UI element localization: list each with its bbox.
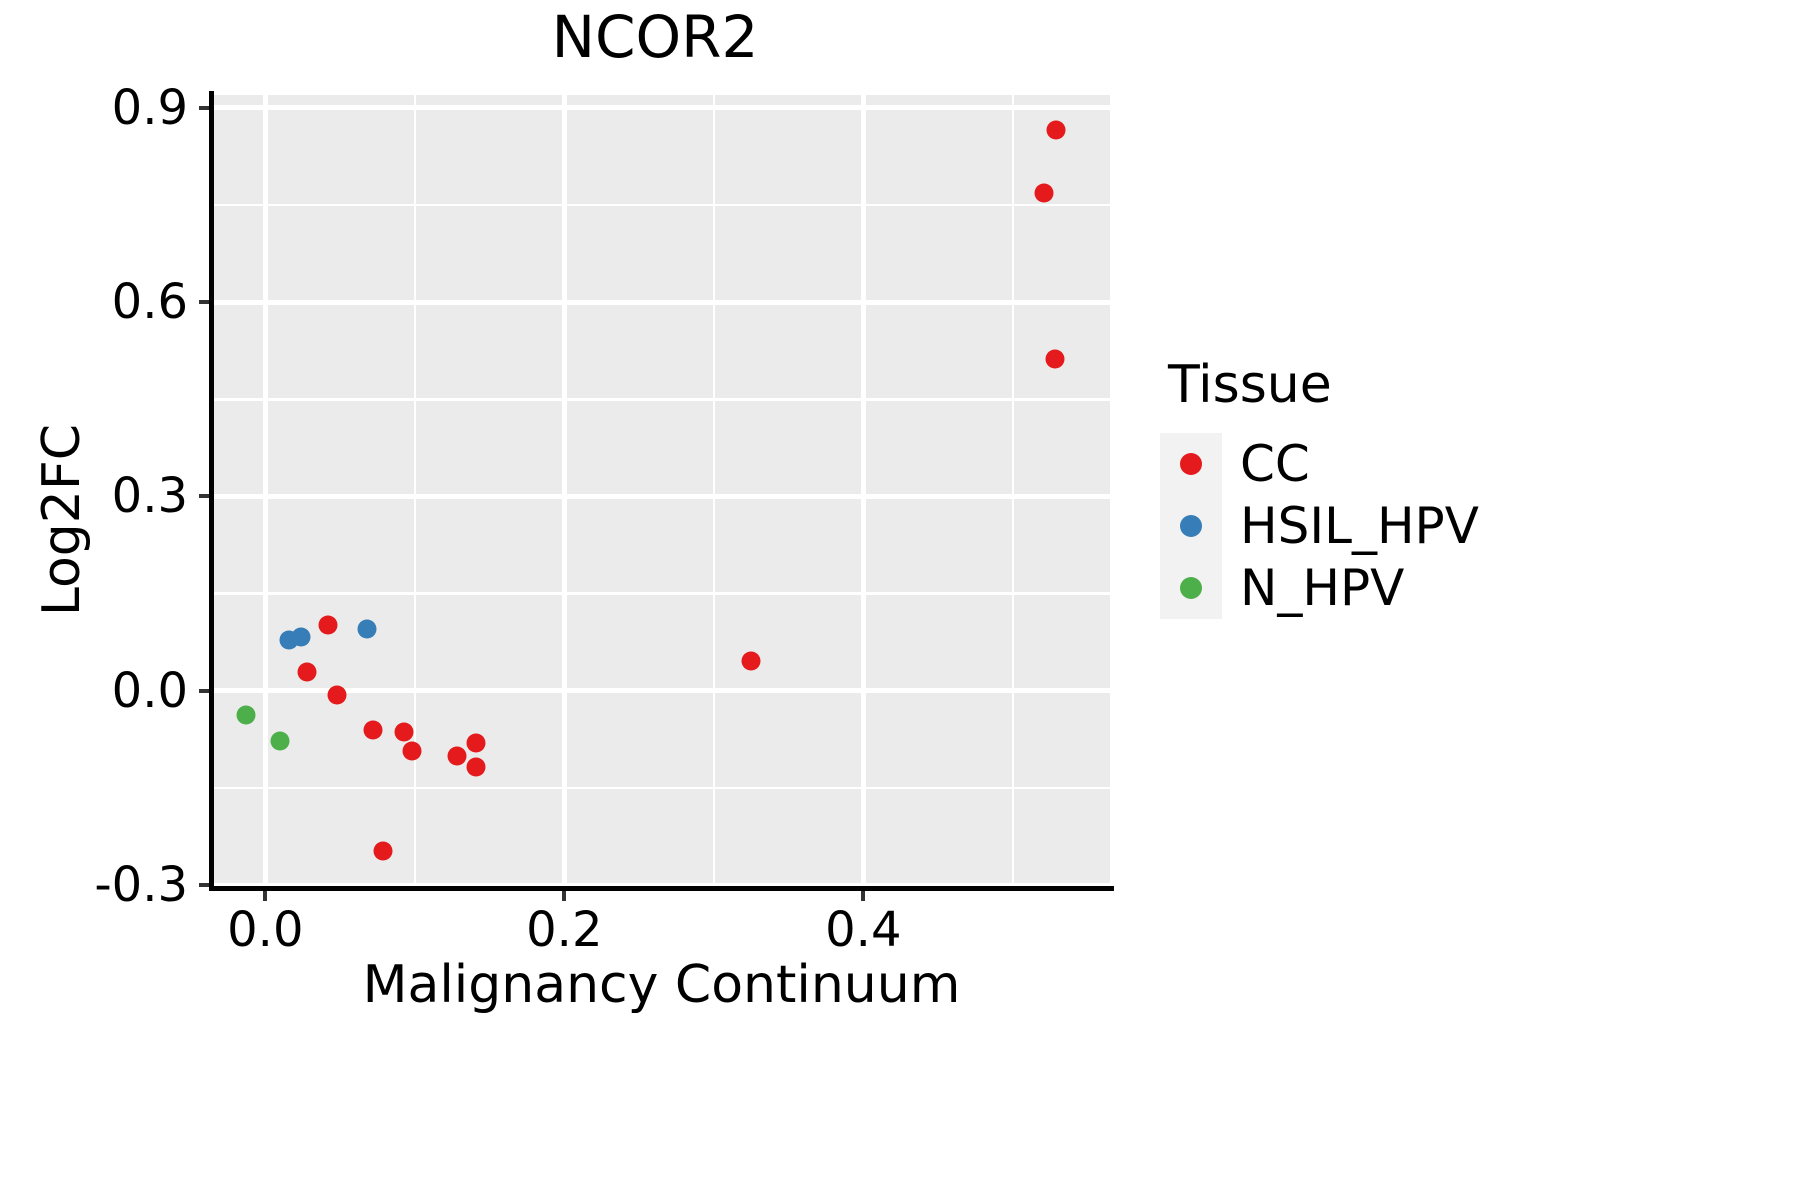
x-tick-mark — [263, 891, 267, 901]
gridline-x-major — [861, 95, 866, 885]
y-tick-mark — [199, 883, 209, 887]
scatter-plot-figure: NCOR2 -0.30.00.30.60.9 0.00.20.4 Log2FC … — [0, 0, 1800, 1200]
legend-item-label: CC — [1240, 439, 1310, 489]
y-tick-label: 0.3 — [112, 468, 188, 524]
x-tick-mark — [861, 891, 865, 901]
data-point — [1047, 120, 1066, 139]
legend-key-swatch — [1160, 495, 1222, 557]
x-axis-line — [209, 886, 1114, 891]
data-point — [357, 620, 376, 639]
plot-panel — [213, 95, 1110, 885]
data-point — [1035, 184, 1054, 203]
data-point — [467, 734, 486, 753]
x-tick-mark — [562, 891, 566, 901]
x-tick-label: 0.2 — [526, 902, 602, 958]
legend-item-label: HSIL_HPV — [1240, 501, 1479, 551]
data-point — [271, 731, 290, 750]
data-point — [328, 686, 347, 705]
gridline-x-minor — [414, 95, 417, 885]
data-point — [402, 741, 421, 760]
legend-item-n-hpv[interactable]: N_HPV — [1160, 557, 1630, 619]
x-axis-title: Malignancy Continuum — [213, 955, 1110, 1015]
y-tick-label: 0.0 — [112, 663, 188, 719]
gridline-y-minor — [213, 398, 1110, 401]
y-tick-mark — [199, 300, 209, 304]
gridline-y-minor — [213, 787, 1110, 790]
y-tick-mark — [199, 689, 209, 693]
gridline-y-minor — [213, 204, 1110, 207]
y-tick-mark — [199, 106, 209, 110]
legend: Tissue CCHSIL_HPVN_HPV — [1160, 355, 1630, 619]
gridline-y-major — [213, 105, 1110, 110]
data-point — [395, 722, 414, 741]
y-tick-mark — [199, 494, 209, 498]
data-point — [374, 842, 393, 861]
data-point — [742, 651, 761, 670]
legend-items: CCHSIL_HPVN_HPV — [1160, 433, 1630, 619]
legend-key-swatch — [1160, 433, 1222, 495]
data-point — [447, 747, 466, 766]
data-point — [236, 705, 255, 724]
y-axis-line — [209, 91, 214, 891]
legend-item-label: N_HPV — [1240, 563, 1404, 613]
y-tick-label: 0.6 — [112, 274, 188, 330]
page-title: NCOR2 — [200, 8, 1110, 66]
data-point — [298, 662, 317, 681]
x-tick-label: 0.4 — [825, 902, 901, 958]
x-tick-label: 0.0 — [227, 902, 303, 958]
legend-key-swatch — [1160, 557, 1222, 619]
gridline-x-minor — [713, 95, 716, 885]
legend-item-hsil-hpv[interactable]: HSIL_HPV — [1160, 495, 1630, 557]
gridline-y-major — [213, 883, 1110, 886]
gridline-y-major — [213, 300, 1110, 305]
legend-item-cc[interactable]: CC — [1160, 433, 1630, 495]
gridline-y-major — [213, 494, 1110, 499]
gridline-y-major — [213, 688, 1110, 693]
gridline-y-minor — [213, 592, 1110, 595]
data-point — [1045, 350, 1064, 369]
y-tick-label: -0.3 — [94, 857, 188, 913]
gridline-x-major — [263, 95, 268, 885]
data-point — [363, 720, 382, 739]
data-point — [319, 616, 338, 635]
data-point — [467, 757, 486, 776]
gridline-x-minor — [1012, 95, 1015, 885]
y-tick-label: 0.9 — [112, 80, 188, 136]
data-point — [292, 627, 311, 646]
y-axis-title: Log2FC — [32, 240, 92, 800]
legend-dot-icon — [1180, 577, 1202, 599]
legend-title: Tissue — [1168, 355, 1630, 415]
legend-dot-icon — [1180, 453, 1202, 475]
legend-dot-icon — [1180, 515, 1202, 537]
gridline-x-major — [562, 95, 567, 885]
